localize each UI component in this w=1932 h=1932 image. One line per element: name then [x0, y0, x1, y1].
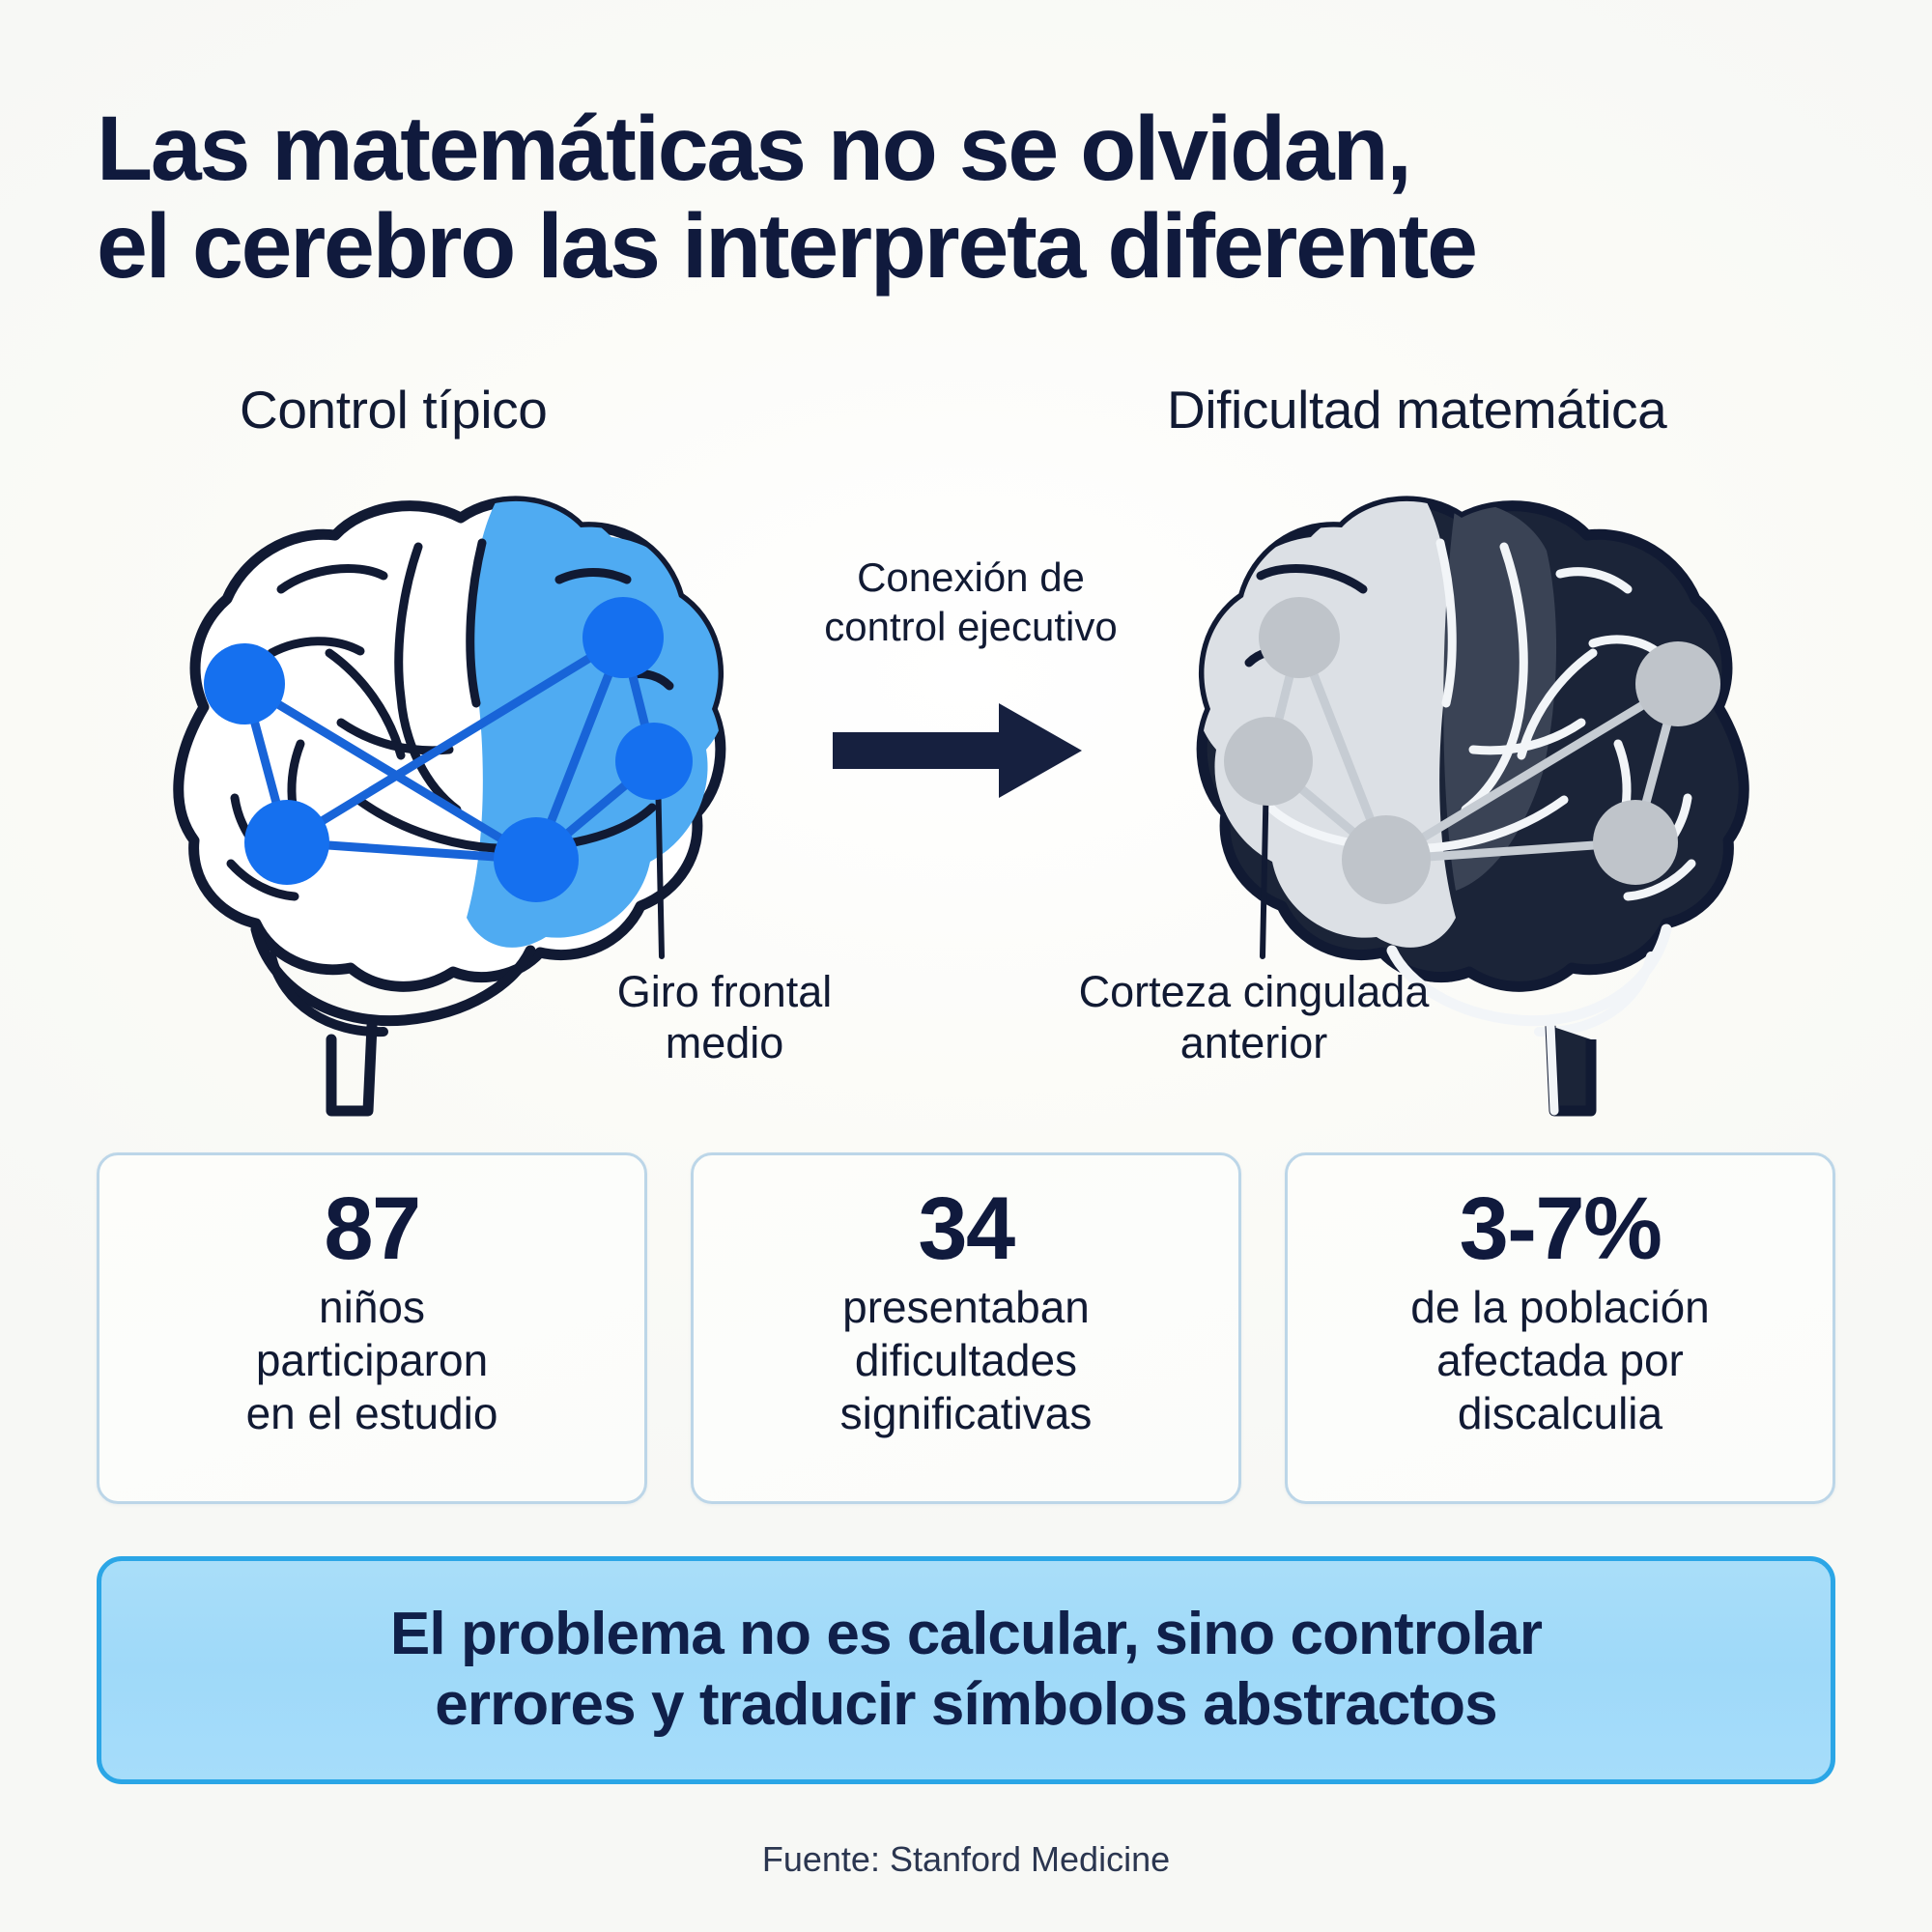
infographic-root: Las matemáticas no se olvidan, el cerebr…: [0, 0, 1932, 1932]
callout-giro-frontal-medio: Giro frontal medio: [522, 966, 927, 1068]
stat-card-prevalence: 3-7% de la población afectada por discal…: [1285, 1152, 1835, 1504]
stat-caption: niños participaron en el estudio: [229, 1281, 516, 1441]
stat-caption: presentaban dificultades significativas: [823, 1281, 1110, 1441]
stat-card-difficulties: 34 presentaban dificultades significativ…: [691, 1152, 1241, 1504]
node-left-4: [582, 597, 664, 678]
node-right-5: [1593, 800, 1678, 885]
brain-left-callout-leader: [658, 773, 662, 956]
stat-caption: de la población afectada por discalculia: [1393, 1281, 1726, 1441]
executive-control-label: Conexión de control ejecutivo: [816, 553, 1125, 651]
node-right-2: [1224, 717, 1313, 806]
page-title: Las matemáticas no se olvidan, el cerebr…: [97, 100, 1855, 295]
stat-number: 34: [918, 1184, 1013, 1273]
callout-corteza-cingulada-anterior: Corteza cingulada anterior: [1012, 966, 1495, 1068]
stat-number: 87: [324, 1184, 419, 1273]
stat-card-participants: 87 niños participaron en el estudio: [97, 1152, 647, 1504]
node-left-5: [615, 723, 693, 800]
title-line-1: Las matemáticas no se olvidan,: [97, 100, 1855, 198]
stat-cards-row: 87 niños participaron en el estudio 34 p…: [97, 1152, 1835, 1504]
node-left-3: [494, 817, 579, 902]
node-right-1: [1259, 597, 1340, 678]
conclusion-banner-text: El problema no es calcular, sino control…: [390, 1600, 1542, 1740]
source-footer: Fuente: Stanford Medicine: [0, 1839, 1932, 1880]
conclusion-banner: El problema no es calcular, sino control…: [97, 1556, 1835, 1784]
arrow-right-icon: [829, 697, 1090, 809]
panel-heading-control-tipico: Control típico: [240, 379, 547, 440]
brain-left-stem: [331, 1026, 372, 1111]
title-line-2: el cerebro las interpreta diferente: [97, 198, 1855, 296]
node-right-3: [1342, 815, 1431, 904]
brain-right-stem-edge: [1550, 1026, 1554, 1111]
node-left-2: [244, 800, 329, 885]
node-right-4: [1635, 641, 1720, 726]
node-left-1: [204, 643, 285, 724]
stat-number: 3-7%: [1460, 1184, 1662, 1273]
panel-heading-dificultad-matematica: Dificultad matemática: [1167, 379, 1666, 440]
